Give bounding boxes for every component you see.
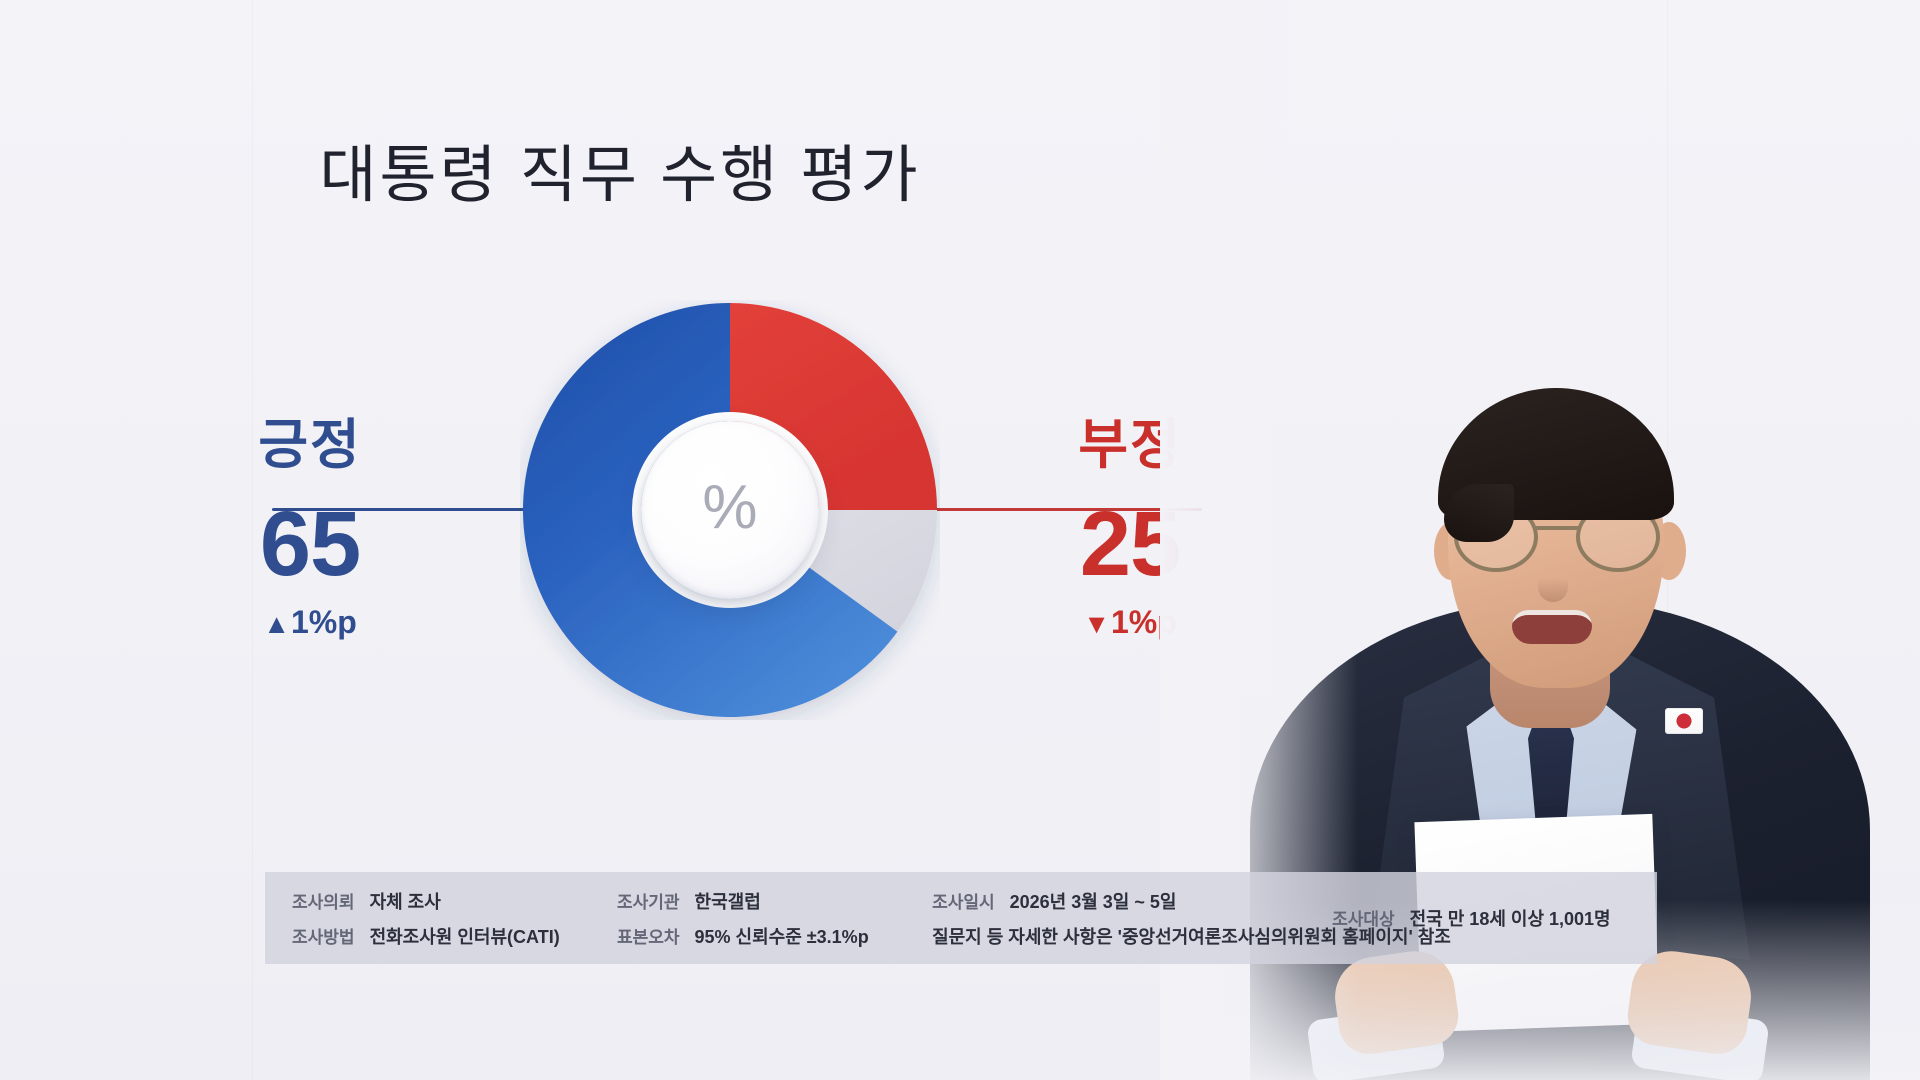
stat-delta-positive: ▲1%p [180, 606, 440, 638]
korean-flag-pin-icon [1665, 708, 1703, 734]
page-title: 대통령 직무 수행 평가 [0, 124, 1240, 214]
footer-row-note: 질문지 등 자세한 사항은 '중앙선거여론조사심의위원회 홈페이지' 참조 [932, 923, 1332, 949]
stat-value-positive: 65 [180, 498, 440, 590]
ear-left [1434, 522, 1468, 580]
head [1448, 412, 1664, 688]
glasses-bridge [1534, 526, 1580, 530]
lens-left [1454, 502, 1538, 572]
delta-down-arrow-icon: ▼ [1083, 609, 1110, 639]
footer-label: 조사방법 [292, 923, 355, 948]
footer-label: 표본오차 [617, 923, 680, 948]
eyeglasses-icon [1452, 502, 1662, 564]
footer-row: 조사의뢰 자체 조사 [292, 888, 617, 914]
footer-row: 조사대상 전국 만 18세 이상 1,001명 [1332, 905, 1657, 931]
footer-row: 조사일시 2026년 3월 3일 ~ 5일 [932, 888, 1332, 914]
nose [1538, 562, 1568, 602]
footer-row: 표본오차 95% 신뢰수준 ±3.1%p [617, 923, 932, 949]
eyebrow-left [1460, 482, 1525, 499]
footer-column-date: 조사일시 2026년 3월 3일 ~ 5일 질문지 등 자세한 사항은 '중앙선… [932, 872, 1332, 964]
donut-center-hub: % [641, 421, 819, 599]
stat-delta-negative: ▼1%p [1000, 606, 1260, 638]
delta-value-positive: 1%p [291, 604, 357, 640]
footer-column-sample: 조사대상 전국 만 18세 이상 1,001명 [1332, 872, 1657, 964]
percent-symbol-icon: % [702, 477, 757, 539]
stat-block-positive: 긍정 65 ▲1%p [180, 418, 440, 638]
hair [1438, 388, 1674, 520]
lens-right [1576, 502, 1660, 572]
stat-block-negative: 부정 25 ▼1%p [1000, 418, 1260, 638]
delta-up-arrow-icon: ▲ [263, 609, 290, 639]
footer-label: 조사대상 [1332, 905, 1395, 930]
footer-row: 조사기관 한국갤럽 [617, 888, 932, 914]
footer-value: 전국 만 18세 이상 1,001명 [1410, 905, 1611, 931]
footer-value: 95% 신뢰수준 ±3.1%p [695, 923, 869, 949]
right-seam-divider [1667, 0, 1668, 1080]
footer-label: 조사의뢰 [292, 888, 355, 913]
ear-right [1652, 522, 1686, 580]
stat-label-negative: 부정 [1000, 418, 1260, 472]
footer-label: 조사기관 [617, 888, 680, 913]
footer-value: 전화조사원 인터뷰(CATI) [370, 923, 560, 949]
delta-value-negative: 1%p [1111, 604, 1177, 640]
neck [1490, 618, 1610, 728]
eyebrow-right [1590, 482, 1655, 499]
donut-chart: % [520, 300, 940, 720]
footer-label: 조사일시 [932, 888, 995, 913]
mouth [1512, 610, 1592, 644]
footer-value: 한국갤럽 [695, 888, 761, 914]
footer-row: 조사방법 전화조사원 인터뷰(CATI) [292, 923, 617, 949]
footer-column-agency: 조사기관 한국갤럽 표본오차 95% 신뢰수준 ±3.1%p [617, 872, 932, 964]
suit-torso [1250, 600, 1870, 1080]
shirt-cuff-right [1630, 1003, 1770, 1080]
stat-value-negative: 25 [1000, 498, 1260, 590]
footer-value: 자체 조사 [370, 888, 441, 914]
shirt-cuff-left [1306, 1003, 1446, 1080]
footer-column-commission: 조사의뢰 자체 조사 조사방법 전화조사원 인터뷰(CATI) [265, 872, 617, 964]
broadcast-graphic-stage: 대통령 직무 수행 평가 [0, 0, 1920, 1080]
survey-source-bar: 조사의뢰 자체 조사 조사방법 전화조사원 인터뷰(CATI) 조사기관 한국갤… [265, 872, 1657, 964]
stat-label-positive: 긍정 [180, 418, 440, 472]
footer-value: 2026년 3월 3일 ~ 5일 [1010, 888, 1177, 914]
